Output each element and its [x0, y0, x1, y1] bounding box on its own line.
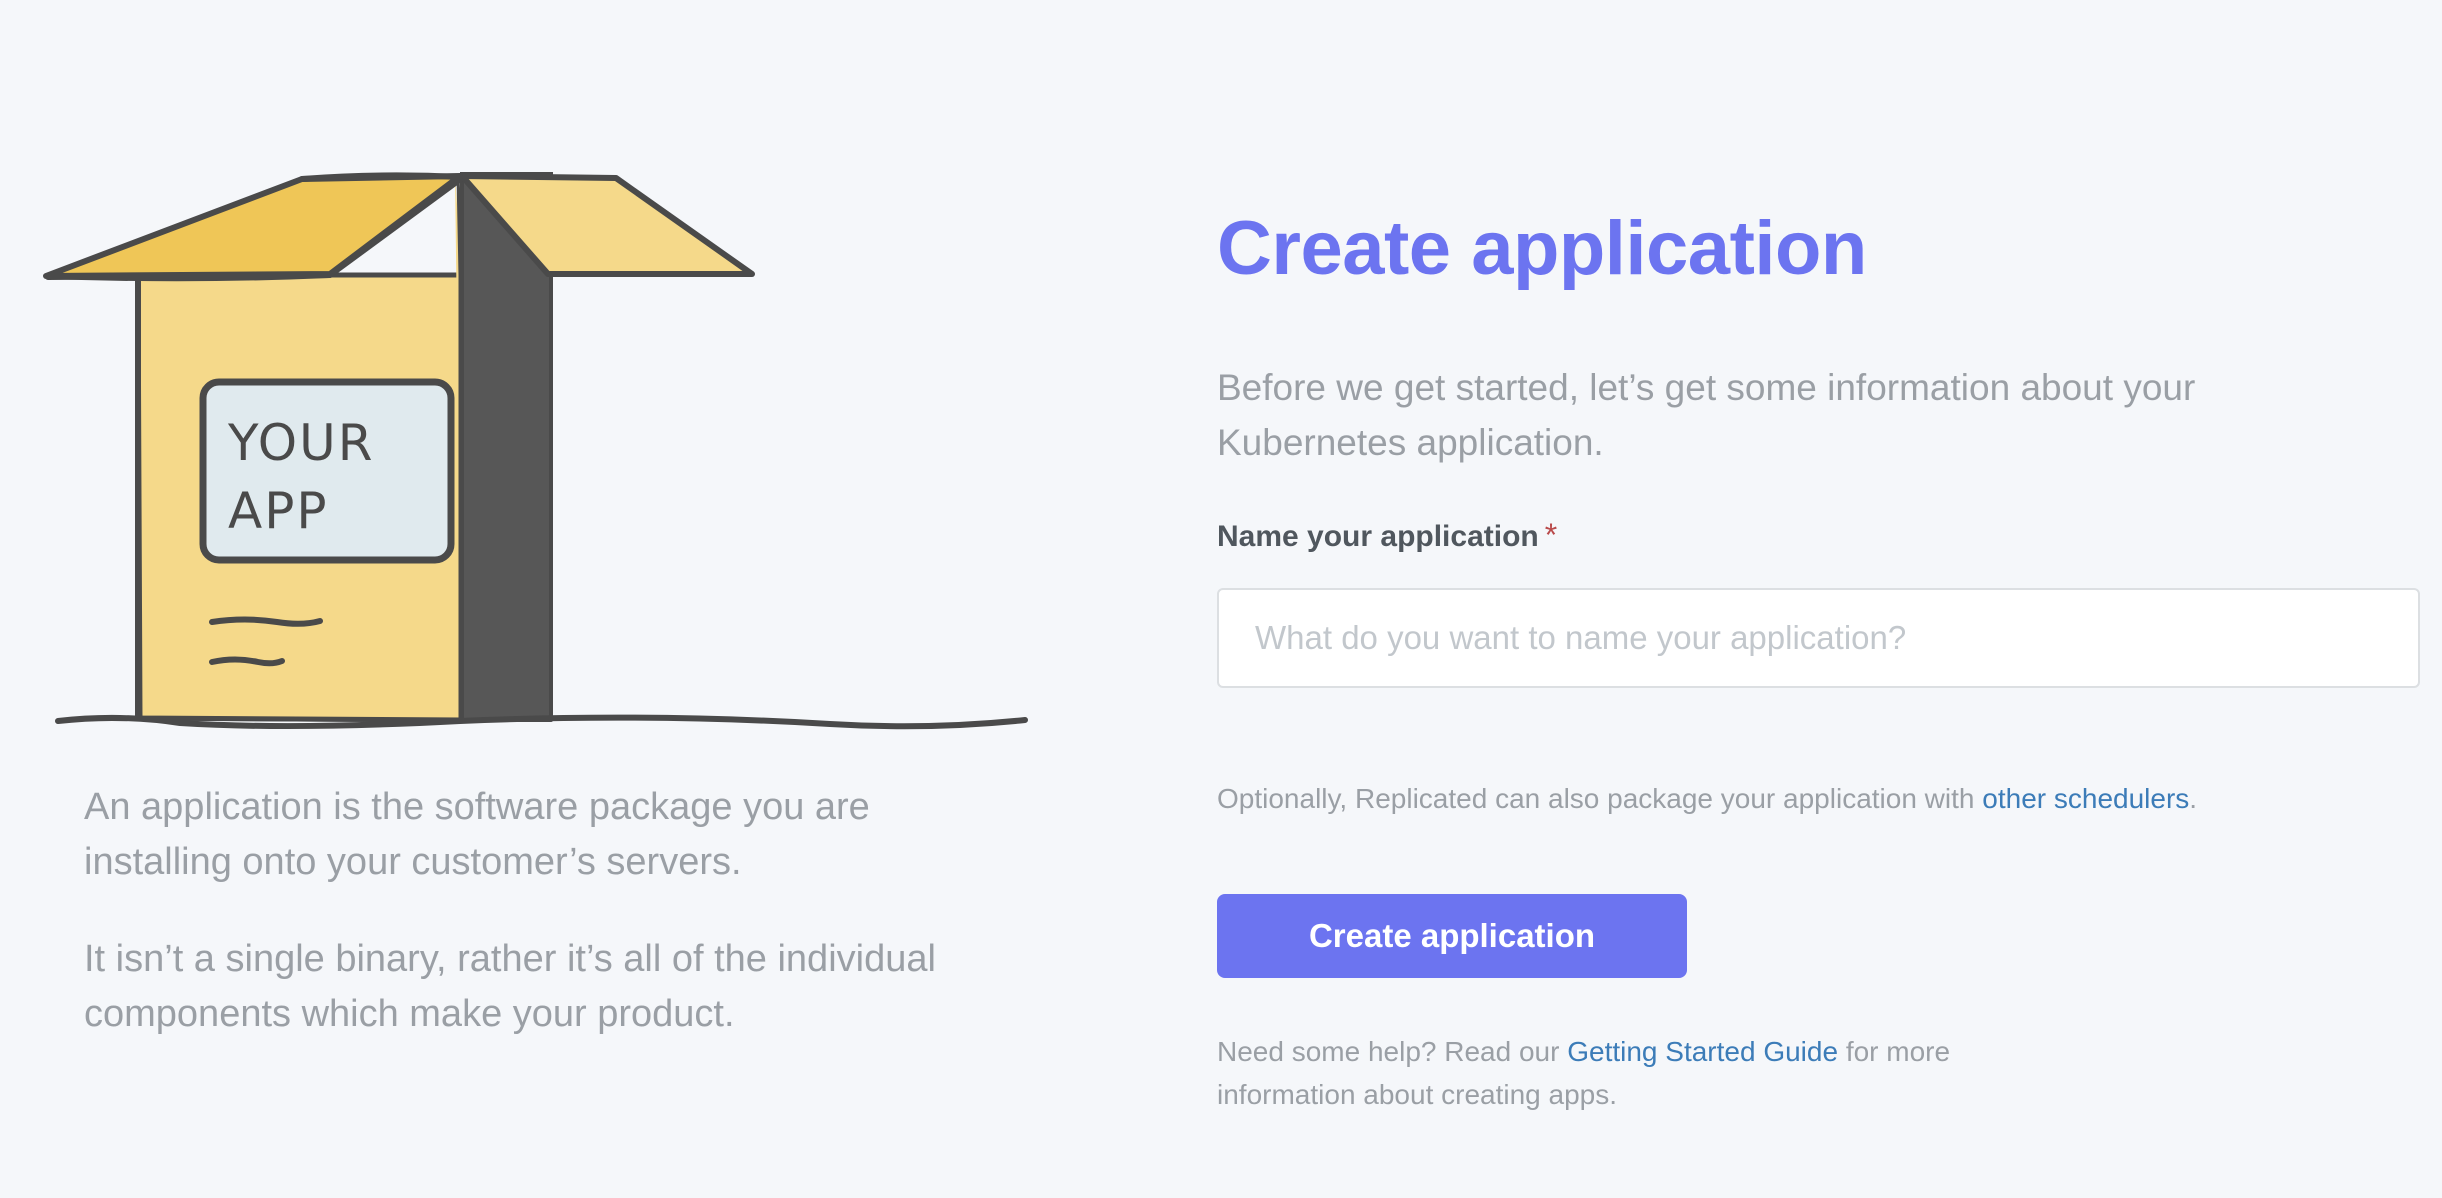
required-marker: *	[1545, 517, 1557, 553]
getting-started-guide-link[interactable]: Getting Started Guide	[1567, 1036, 1838, 1067]
left-column: YOUR APP An application is the software …	[0, 0, 1150, 1198]
help-note-prefix: Need some help? Read our	[1217, 1036, 1567, 1067]
name-field-label-text: Name your application	[1217, 520, 1539, 553]
create-application-page: YOUR APP An application is the software …	[0, 0, 2442, 1198]
left-paragraph-2: It isn’t a single binary, rather it’s al…	[84, 932, 984, 1042]
optional-note-prefix: Optionally, Replicated can also package …	[1217, 783, 1982, 814]
your-app-label-line1: YOUR	[227, 414, 375, 472]
application-name-input[interactable]	[1217, 588, 2420, 688]
open-cardboard-box-illustration: YOUR APP	[30, 170, 1060, 740]
page-title: Create application	[1217, 208, 1867, 290]
your-app-label-line2: APP	[228, 482, 329, 540]
left-description: An application is the software package y…	[84, 780, 984, 1042]
right-column: Create application Before we get started…	[1213, 0, 2413, 1198]
create-application-button[interactable]: Create application	[1217, 894, 1687, 978]
help-note: Need some help? Read our Getting Started…	[1217, 1030, 2017, 1116]
intro-text: Before we get started, let’s get some in…	[1217, 360, 2352, 470]
other-schedulers-link[interactable]: other schedulers	[1982, 783, 2189, 814]
left-paragraph-1: An application is the software package y…	[84, 780, 984, 890]
optional-schedulers-note: Optionally, Replicated can also package …	[1217, 780, 2197, 818]
optional-note-suffix: .	[2189, 783, 2197, 814]
name-field-label: Name your application*	[1217, 517, 1557, 555]
